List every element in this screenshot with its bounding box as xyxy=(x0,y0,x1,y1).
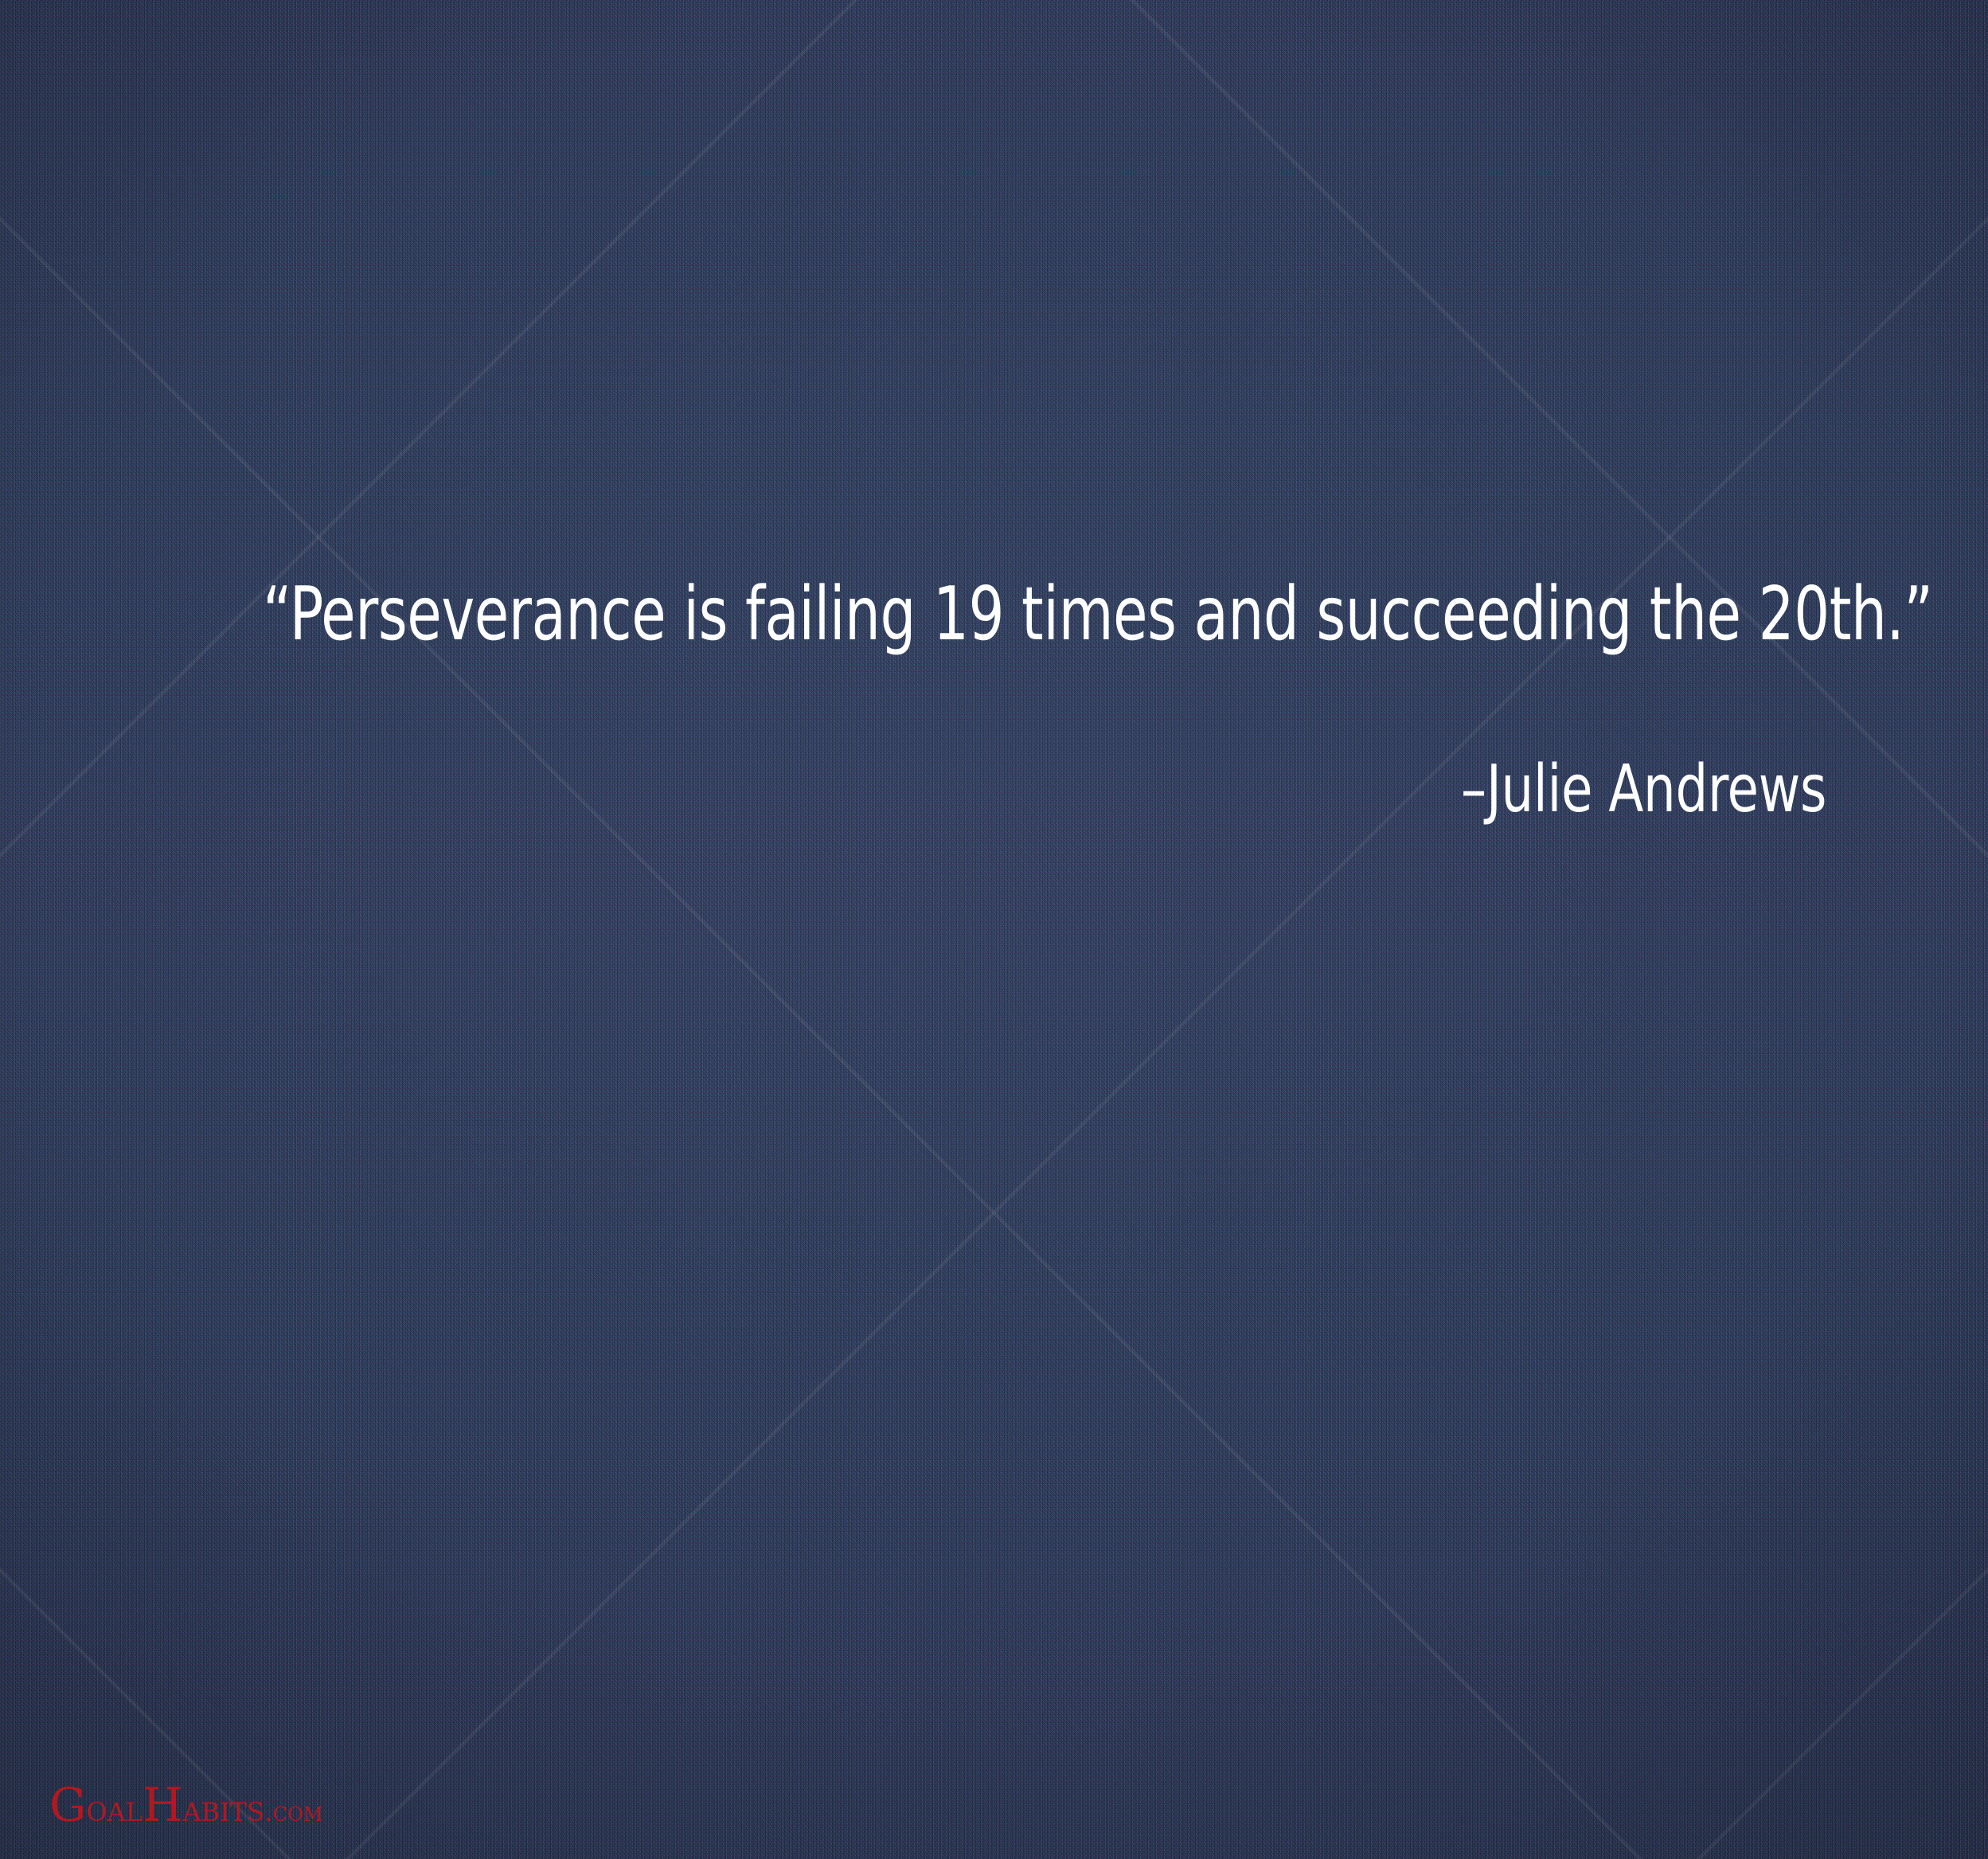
watermark-initial-h: H xyxy=(143,1778,183,1832)
watermark-initial-g: G xyxy=(49,1778,86,1832)
watermark-goalhabits[interactable]: GoalHabits.com xyxy=(49,1782,322,1828)
quote-image-canvas: “Perseverance is failing 19 times and su… xyxy=(0,0,1988,1859)
quote-attribution: –Julie Andrews xyxy=(1461,752,1826,827)
watermark-tld: .com xyxy=(264,1796,322,1828)
watermark-abits: abits xyxy=(183,1787,265,1830)
watermark-oal: oal xyxy=(86,1787,143,1830)
quote-content: “Perseverance is failing 19 times and su… xyxy=(0,0,1988,1859)
quote-text: “Perseverance is failing 19 times and su… xyxy=(263,572,1642,657)
